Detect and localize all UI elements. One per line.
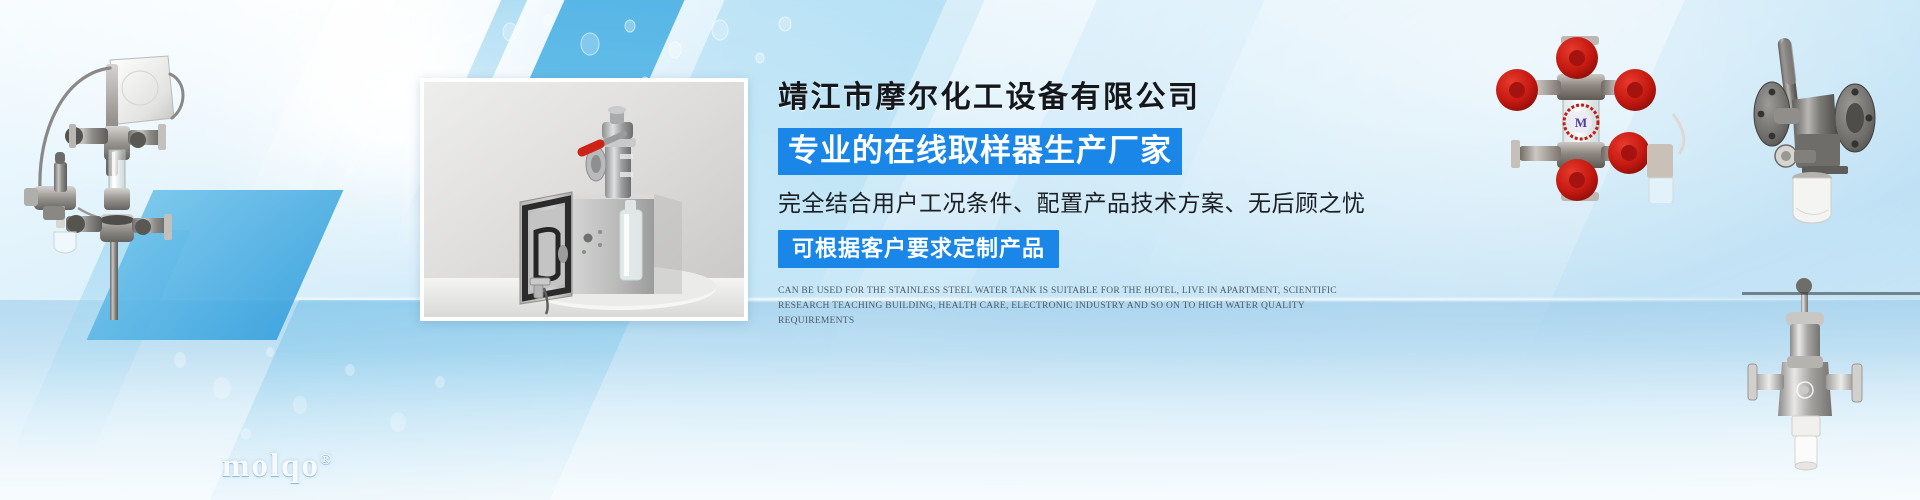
right-sampling-valve-image <box>1742 268 1920 473</box>
center-product-photo <box>420 78 748 321</box>
company-name: 靖江市摩尔化工设备有限公司 <box>778 80 1398 116</box>
left-equipment-image <box>6 20 206 320</box>
right-manifold-image: M <box>1483 18 1713 203</box>
svg-text:M: M <box>1575 115 1587 130</box>
subline-text: 完全结合用户工况条件、配置产品技术方案、无后顾之忧 <box>778 188 1398 218</box>
headline-badge: 专业的在线取样器生产厂家 <box>778 128 1182 175</box>
banner-copy-block: 靖江市摩尔化工设备有限公司 专业的在线取样器生产厂家 完全结合用户工况条件、配置… <box>778 80 1398 329</box>
right-lever-valve-image <box>1750 8 1920 233</box>
registered-trademark-icon: ® <box>320 452 331 468</box>
watermark-text: molqo <box>222 448 320 484</box>
tagline-badge: 可根据客户要求定制产品 <box>778 230 1059 268</box>
fineprint-text: CAN BE USED FOR THE STAINLESS STEEL WATE… <box>778 284 1378 329</box>
watermark-logo: molqo® <box>222 448 331 485</box>
water-droplets-lower-icon <box>150 330 470 460</box>
promo-banner: M <box>0 0 1920 500</box>
